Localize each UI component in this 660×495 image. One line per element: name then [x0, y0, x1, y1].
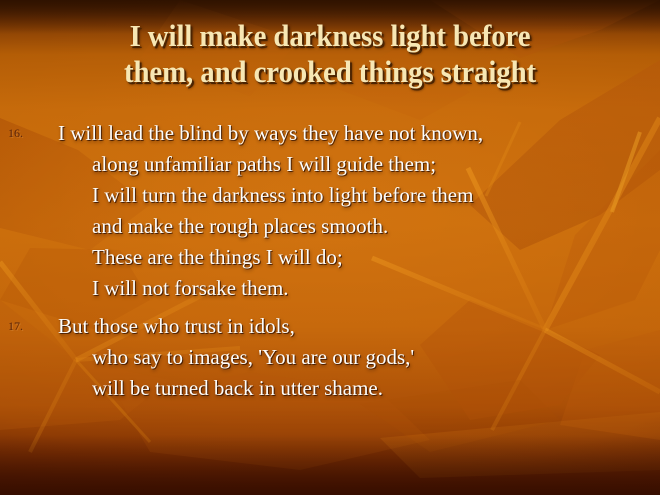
- slide-title-line-1: I will make darkness light before: [130, 18, 531, 53]
- verse-number: 17.: [8, 320, 42, 332]
- verse-block: 16. I will lead the blind by ways they h…: [0, 118, 660, 304]
- verse-line: I will lead the blind by ways they have …: [8, 118, 660, 149]
- verse-lines: I will lead the blind by ways they have …: [8, 118, 660, 304]
- verse-line: But those who trust in idols,: [8, 311, 660, 342]
- verse-line: These are the things I will do;: [8, 242, 660, 273]
- verse-lines: But those who trust in idols, who say to…: [8, 311, 660, 404]
- verse-line: will be turned back in utter shame.: [8, 373, 660, 404]
- verse-line: along unfamiliar paths I will guide them…: [8, 149, 660, 180]
- presentation-slide: I will make darkness light before them, …: [0, 0, 660, 495]
- slide-title: I will make darkness light before them, …: [47, 18, 612, 90]
- verse-line: I will turn the darkness into light befo…: [8, 180, 660, 211]
- slide-title-line-2: them, and crooked things straight: [124, 54, 536, 89]
- verse-line: I will not forsake them.: [8, 273, 660, 304]
- slide-content: I will make darkness light before them, …: [0, 0, 660, 495]
- verse-block: 17. But those who trust in idols, who sa…: [0, 311, 660, 404]
- verse-number: 16.: [8, 127, 42, 139]
- verse-line: and make the rough places smooth.: [8, 211, 660, 242]
- verse-line: who say to images, 'You are our gods,': [8, 342, 660, 373]
- verse-list: 16. I will lead the blind by ways they h…: [0, 118, 660, 404]
